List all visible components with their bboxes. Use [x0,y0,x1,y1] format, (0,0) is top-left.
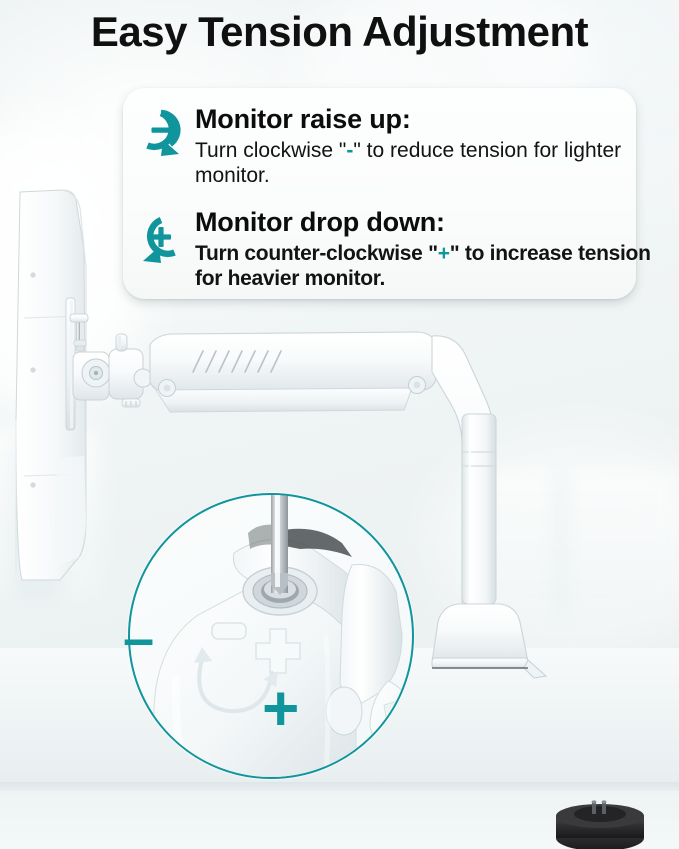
callout-monitor-raise-up: Monitor raise up: Turn clockwise "-" to … [137,104,665,188]
page-title: Easy Tension Adjustment [0,8,679,56]
detail-minus-label: – [123,610,154,666]
callout-heading: Monitor drop down: [195,207,665,238]
detail-plus-label: + [262,676,299,740]
callout-symbol-plus: + [438,242,450,265]
callout-body: Turn counter-clockwise "+" to increase t… [195,241,665,291]
gas-spring-arm [150,332,436,412]
callout-text-block: Monitor raise up: Turn clockwise "-" to … [195,104,665,188]
background-window-mullion [556,472,566,622]
background-bokeh [430,430,679,650]
background-window-mullion [14,440,60,600]
callout-text-block: Monitor drop down: Turn counter-clockwis… [195,207,665,291]
tilt-joint [109,334,152,407]
callout-body-pre: Turn clockwise " [195,139,346,162]
callout-body: Turn clockwise "-" to reduce tension for… [195,138,665,188]
callout-heading: Monitor raise up: [195,104,665,135]
desk-edge [0,782,679,791]
product-infographic: Easy Tension Adjustment Monitor raise up… [0,0,679,849]
clamp-knob [556,800,644,849]
riser-post [430,336,556,632]
rotate-clockwise-minus-icon [137,108,185,162]
monitor-back-panel [16,190,86,580]
desk-underside [0,791,679,849]
background-window [0,430,100,600]
vesa-plate [66,298,110,430]
background-window [470,470,679,620]
desk-clamp-base [432,604,546,678]
callout-body-pre: Turn counter-clockwise " [195,242,438,265]
callout-monitor-drop-down: Monitor drop down: Turn counter-clockwis… [137,207,665,291]
rotate-counterclockwise-plus-icon [137,215,185,269]
